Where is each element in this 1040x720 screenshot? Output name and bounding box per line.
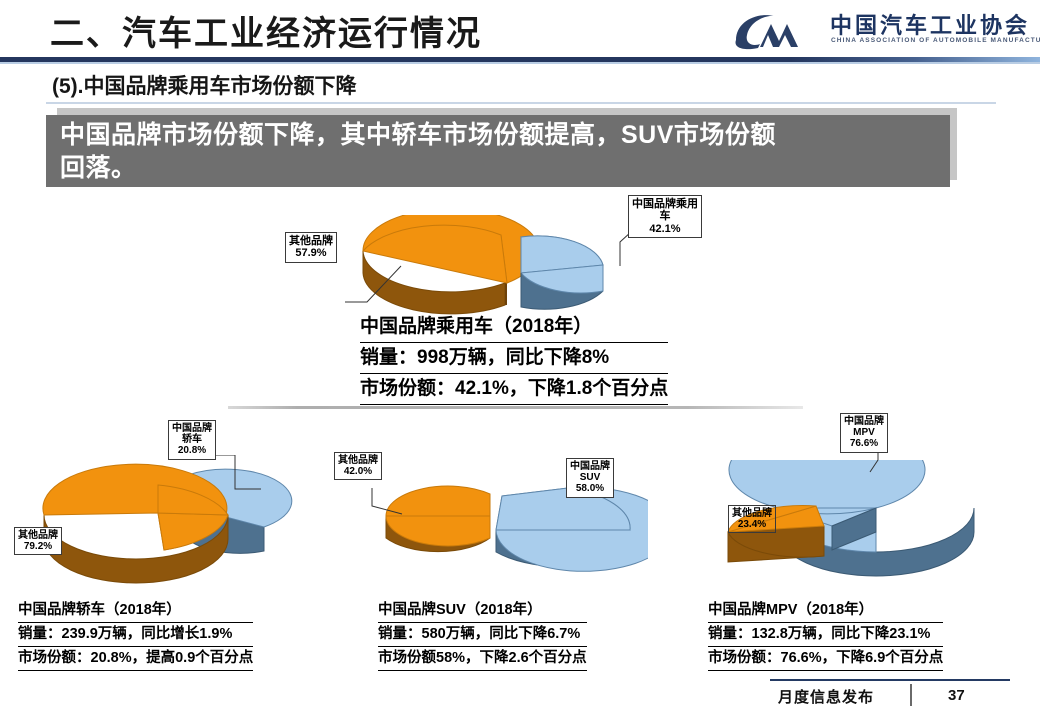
- caption-line-3: 市场份额：42.1%，下降1.8个百分点: [360, 376, 668, 405]
- callout-sedan-china-brand: 中国品牌 轿车 20.8%: [168, 420, 216, 460]
- caption-mpv: 中国品牌MPV（2018年） 销量：132.8万辆，同比下降23.1% 市场份额…: [708, 600, 943, 672]
- callout-value: 79.2%: [18, 541, 58, 552]
- caption-line-3: 市场份额58%，下降2.6个百分点: [378, 648, 587, 671]
- caption-line-2: 销量：580万辆，同比下降6.7%: [378, 624, 587, 647]
- caption-line-1: 中国品牌MPV（2018年）: [708, 600, 943, 623]
- page-title: 二、汽车工业经济运行情况: [50, 6, 482, 55]
- leader-line-passenger-orange: [345, 262, 415, 304]
- page-number: 37: [948, 687, 965, 704]
- caption-sedan: 中国品牌轿车（2018年） 销量：239.9万辆，同比增长1.9% 市场份额：2…: [18, 600, 253, 672]
- subtitle-underline: [46, 102, 996, 104]
- callout-label: 中国品牌: [570, 461, 610, 472]
- callout-value: 23.4%: [732, 519, 772, 530]
- footer-rule: [770, 679, 1010, 681]
- caption-suv: 中国品牌SUV（2018年） 销量：580万辆，同比下降6.7% 市场份额58%…: [378, 600, 587, 672]
- callout-label: 其他品牌: [732, 508, 772, 519]
- callout-label-cont: 轿车: [172, 434, 212, 445]
- leader-line-suv-orange: [362, 488, 408, 518]
- chart-sedan-pie-graphic: [38, 455, 308, 585]
- callout-mpv-other-brands: 其他品牌 23.4%: [728, 505, 776, 533]
- footer-separator: [910, 684, 912, 706]
- callout-passenger-other-brands: 其他品牌 57.9%: [285, 232, 337, 263]
- callout-label: 其他品牌: [338, 455, 378, 466]
- caption-line-1: 中国品牌乘用车（2018年）: [360, 314, 668, 343]
- summary-banner-text: 中国品牌市场份额下降，其中轿车市场份额提高，SUV市场份额 回落。: [60, 119, 940, 185]
- callout-value: 76.6%: [844, 438, 884, 449]
- summary-banner: 中国品牌市场份额下降，其中轿车市场份额提高，SUV市场份额 回落。: [46, 115, 950, 187]
- callout-suv-other-brands: 其他品牌 42.0%: [334, 452, 382, 480]
- callout-sedan-other-brands: 其他品牌 79.2%: [14, 527, 62, 555]
- logo-english-name: CHINA ASSOCIATION OF AUTOMOBILE MANUFACT…: [831, 37, 1040, 44]
- callout-value: 20.8%: [172, 445, 212, 456]
- callout-label: 中国品牌: [844, 416, 884, 427]
- caption-line-1: 中国品牌SUV（2018年）: [378, 600, 587, 623]
- slice-china-brand: [496, 487, 648, 571]
- caam-logo-icon: [730, 10, 822, 50]
- banner-line-1: 中国品牌市场份额下降，其中轿车市场份额提高，SUV市场份额: [60, 121, 776, 149]
- caption-line-1: 中国品牌轿车（2018年）: [18, 600, 253, 623]
- caption-line-2: 销量：239.9万辆，同比增长1.9%: [18, 624, 253, 647]
- callout-value: 58.0%: [570, 483, 610, 494]
- callout-label-cont: 车: [632, 210, 698, 222]
- callout-label: 其他品牌: [289, 235, 333, 247]
- callout-label-cont: MPV: [844, 427, 884, 438]
- callout-value: 42.0%: [338, 466, 378, 477]
- header-rule-thin: [0, 62, 1040, 64]
- callout-label: 中国品牌乘用: [632, 198, 698, 210]
- callout-value: 42.1%: [632, 223, 698, 235]
- slice-china-brand: [521, 236, 603, 309]
- callout-passenger-china-brand: 中国品牌乘用 车 42.1%: [628, 195, 702, 238]
- caption-line-2: 销量：998万辆，同比下降8%: [360, 345, 668, 374]
- caption-line-3: 市场份额：76.6%，下降6.9个百分点: [708, 648, 943, 671]
- footer-label: 月度信息发布: [778, 686, 874, 707]
- caption-line-2: 销量：132.8万辆，同比下降23.1%: [708, 624, 943, 647]
- callout-label: 其他品牌: [18, 530, 58, 541]
- slice-other-brands: [43, 464, 228, 583]
- callout-suv-china-brand: 中国品牌 SUV 58.0%: [566, 458, 614, 498]
- callout-label: 中国品牌: [172, 423, 212, 434]
- caption-passenger: 中国品牌乘用车（2018年） 销量：998万辆，同比下降8% 市场份额：42.1…: [360, 314, 668, 407]
- callout-mpv-china-brand: 中国品牌 MPV 76.6%: [840, 413, 888, 453]
- callout-value: 57.9%: [289, 247, 333, 259]
- caam-logo: 中国汽车工业协会 CHINA ASSOCIATION OF AUTOMOBILE…: [730, 8, 1020, 54]
- logo-chinese-name: 中国汽车工业协会: [830, 8, 1030, 40]
- caption-line-3: 市场份额：20.8%，提高0.9个百分点: [18, 648, 253, 671]
- slide-header: 二、汽车工业经济运行情况 中国汽车工业协会 CHINA ASSOCIATION …: [0, 0, 1040, 62]
- slide-root: 二、汽车工业经济运行情况 中国汽车工业协会 CHINA ASSOCIATION …: [0, 0, 1040, 720]
- section-subtitle: (5).中国品牌乘用车市场份额下降: [52, 70, 357, 100]
- section-divider: [228, 406, 803, 409]
- leader-line-sedan-blue: [205, 455, 267, 505]
- banner-line-2: 回落。: [60, 154, 137, 182]
- callout-label-cont: SUV: [570, 472, 610, 483]
- chart-sedan-pie: [38, 455, 308, 585]
